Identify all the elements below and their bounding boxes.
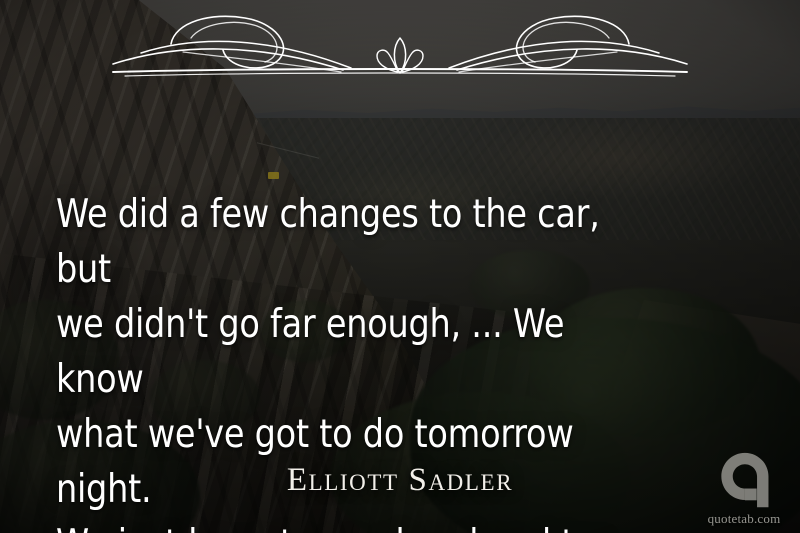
watermark-site-label: quotetab.com <box>708 511 781 527</box>
quote-card: We did a few changes to the car, but we … <box>0 0 800 533</box>
quotetab-q-logo-icon <box>715 451 773 509</box>
watermark[interactable]: quotetab.com <box>698 451 790 527</box>
quote-author: Elliott Sadler <box>0 462 800 499</box>
